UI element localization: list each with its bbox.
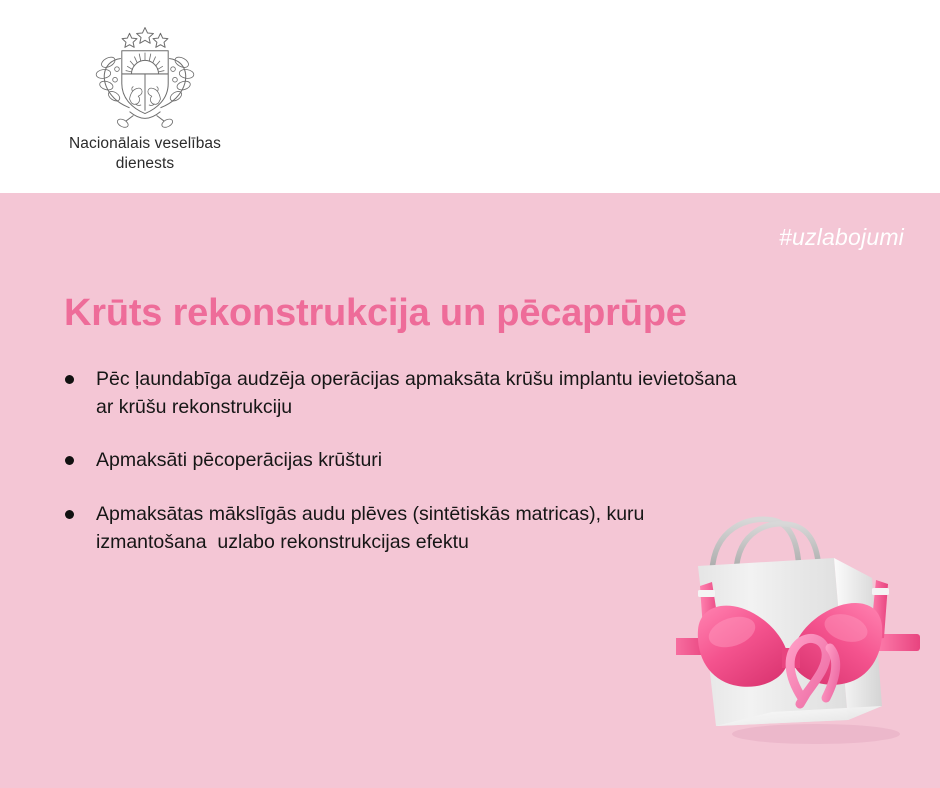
organisation-name: Nacionālais veselības dienests (45, 134, 245, 175)
poster-canvas: Nacionālais veselības dienests #uzlaboju… (0, 0, 940, 788)
list-item: Apmaksātas mākslīgās audu plēves (sintēt… (58, 501, 758, 556)
list-item-text: Apmaksātas mākslīgās audu plēves (sintēt… (96, 501, 758, 556)
list-item-text: Apmaksāti pēcoperācijas krūšturi (96, 447, 758, 475)
shopping-bag-with-bra-illustration (676, 498, 940, 754)
list-item: Apmaksāti pēcoperācijas krūšturi (58, 447, 758, 475)
organisation-logo: Nacionālais veselības dienests (45, 14, 245, 175)
bullet-dot-icon (65, 456, 74, 465)
benefits-list: Pēc ļaundabīga audzēja operācijas apmaks… (58, 366, 758, 556)
bullet-dot-icon (65, 510, 74, 519)
page-title: Krūts rekonstrukcija un pēcaprūpe (64, 292, 687, 335)
header-band: Nacionālais veselības dienests (0, 0, 940, 193)
organisation-name-line1: Nacionālais veselības (45, 134, 245, 154)
bag-shadow (732, 724, 900, 744)
list-item-text: Pēc ļaundabīga audzēja operācijas apmaks… (96, 366, 758, 421)
organisation-name-line2: dienests (45, 154, 245, 174)
bullet-dot-icon (65, 375, 74, 384)
list-item: Pēc ļaundabīga audzēja operācijas apmaks… (58, 366, 758, 421)
latvian-coat-of-arms-icon (87, 14, 203, 130)
hashtag-label: #uzlabojumi (779, 224, 904, 251)
